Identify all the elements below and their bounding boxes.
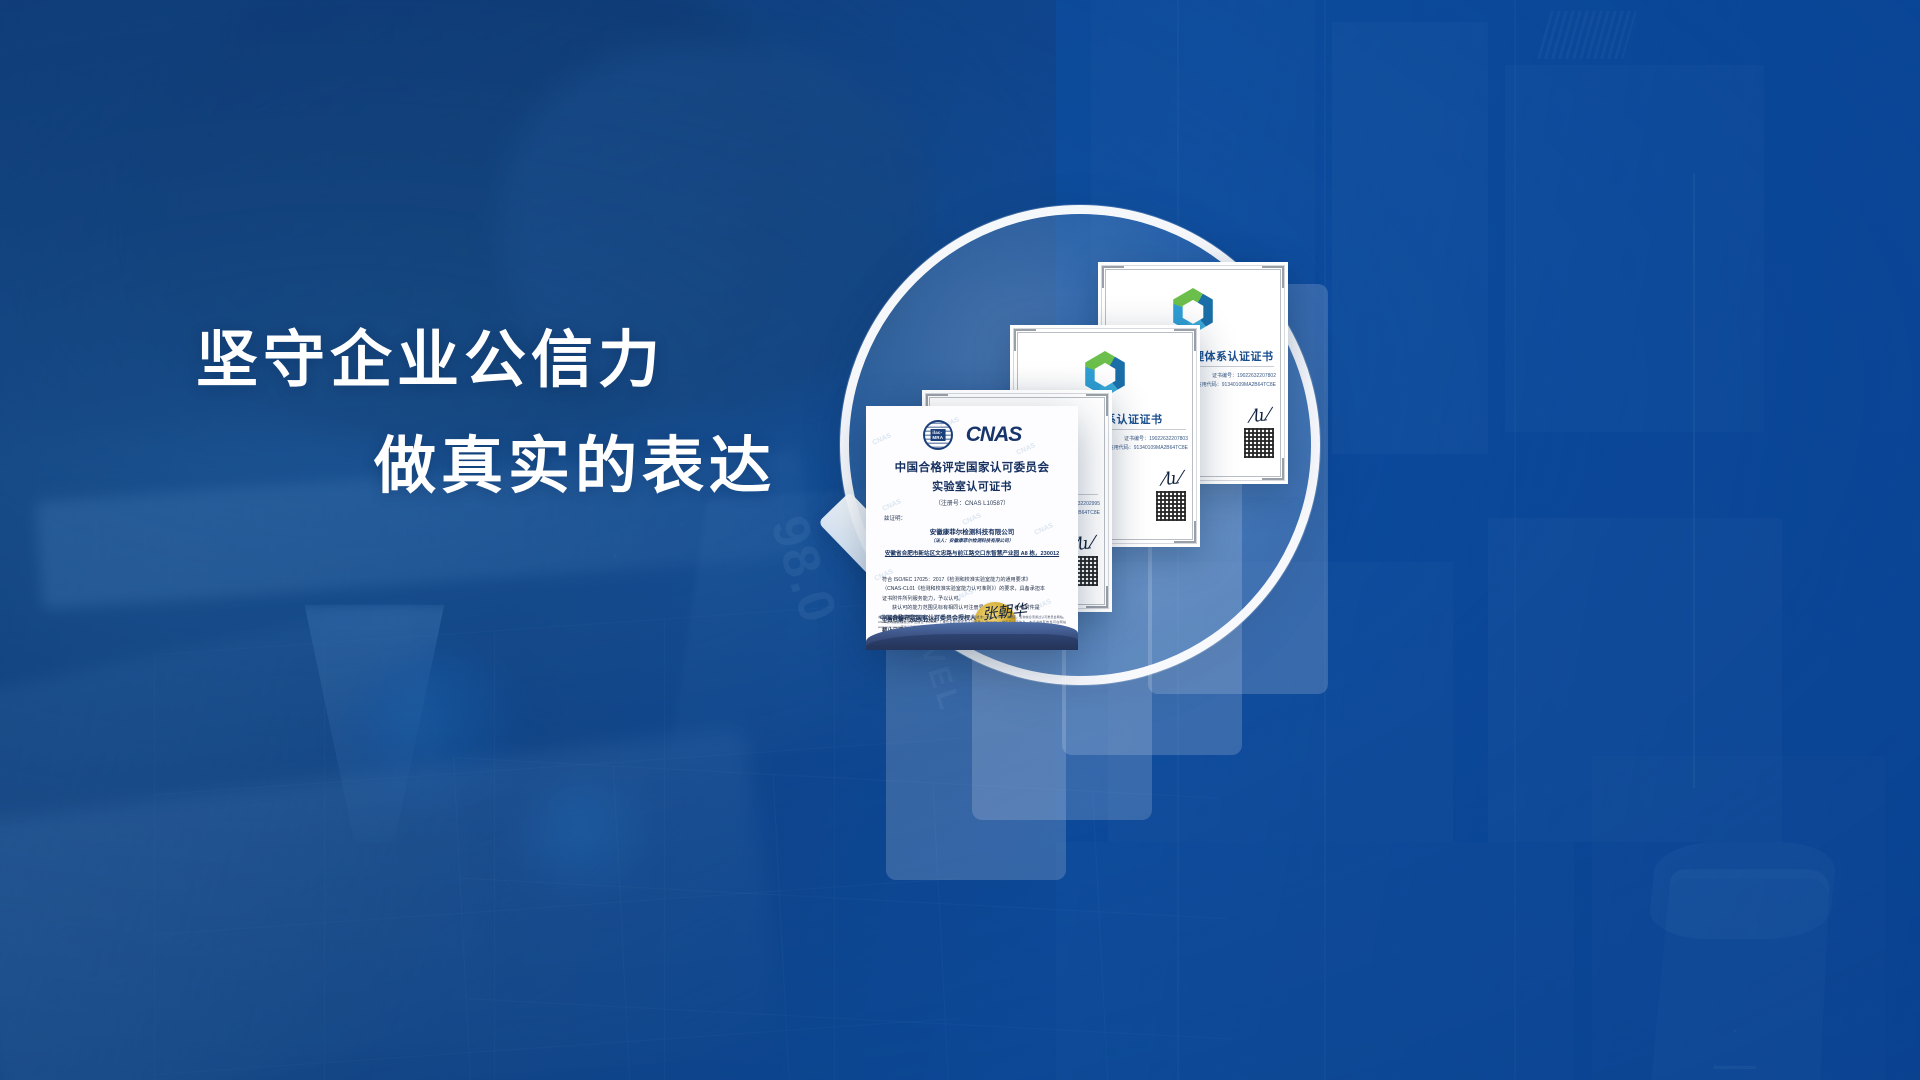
cert-no-label: 证书编号：	[1212, 373, 1237, 379]
signature: ⁄և⁄	[1162, 468, 1183, 490]
corner-ornament	[1102, 266, 1124, 288]
cnas-footer-wave-dark	[866, 634, 1078, 650]
cnas-body-line-2: （CNAS-CL01《检测和校准实验室能力认可准则》）的要求，具备承担本	[882, 585, 1064, 594]
hero-headline: 坚守企业公信力 做真实的表达	[196, 330, 956, 498]
qr-code-icon	[1156, 491, 1186, 521]
corner-ornament	[1014, 329, 1036, 351]
cnas-body-line-1: 符合 ISO/IEC 17025：2017《检测和校准实验室能力的通用要求》	[882, 576, 1064, 585]
credit-value: 91340109MA2B64TC8E	[1222, 382, 1276, 388]
cnas-registration-number: （注册号：CNAS L10587）	[866, 498, 1078, 507]
cnas-logo-text: CNAS	[966, 423, 1022, 447]
cnas-intro-label: 兹证明：	[884, 514, 906, 522]
cert-no-value: 19022632207802	[1237, 373, 1276, 379]
cert-no-label: 证书编号：	[1124, 436, 1149, 442]
credit-value: 91340109MA2B64TC8E	[1134, 445, 1188, 451]
hero-banner: 98.0 ZOOM LEVEL 坚守企业公信力 做真实的表达 职业健康安全管理体…	[0, 0, 1920, 1080]
headline-line-2: 做真实的表达	[374, 436, 956, 498]
qr-code-icon	[1244, 428, 1274, 458]
cert-no-value: 19022632207803	[1149, 436, 1188, 442]
cnas-company-sub: （法人：安徽康菲尔检测科技有限公司）	[866, 538, 1078, 544]
corner-ornament	[1086, 394, 1108, 416]
watermark-text: CNAS	[961, 512, 982, 526]
corner-ornament	[1174, 329, 1196, 351]
headline-line-1: 坚守企业公信力	[196, 330, 956, 392]
cnas-company-name: 安徽康菲尔检测科技有限公司	[866, 526, 1078, 536]
cnas-company-address: 安徽省合肥市新站区文忠路与前江路交口东智慧产业园 A8 栋，230012	[880, 549, 1064, 560]
corner-ornament	[1262, 266, 1284, 288]
signature: ⁄և⁄	[1250, 405, 1271, 427]
